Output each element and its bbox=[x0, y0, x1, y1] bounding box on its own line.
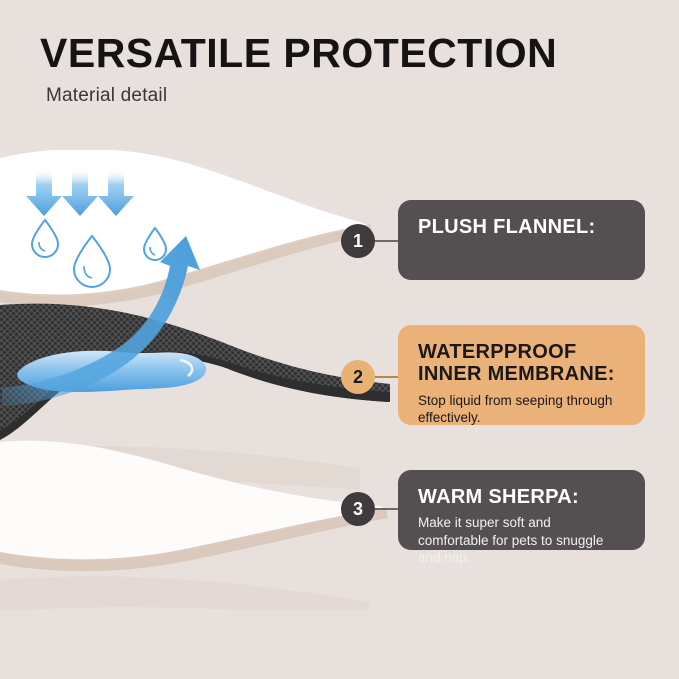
callout-title-2-line1: WATERPPROOF bbox=[418, 341, 625, 363]
callout-body-3: Make it super soft and comfortable for p… bbox=[418, 514, 625, 566]
material-cross-section-illustration bbox=[0, 150, 400, 610]
page-subtitle: Material detail bbox=[46, 85, 640, 107]
callout-title-2-line2: INNER MEMBRANE: bbox=[418, 363, 625, 385]
callout-warm-sherpa[interactable]: WARM SHERPA: Make it super soft and comf… bbox=[398, 470, 645, 550]
callout-title-1: PLUSH FLANNEL: bbox=[418, 216, 625, 238]
callout-waterproof-membrane[interactable]: WATERPPROOF INNER MEMBRANE: Stop liquid … bbox=[398, 325, 645, 425]
callout-title-3: WARM SHERPA: bbox=[418, 486, 625, 508]
page-title: VERSATILE PROTECTION bbox=[40, 32, 640, 75]
step-badge-2: 2 bbox=[341, 360, 375, 394]
water-down-arrows bbox=[26, 168, 134, 216]
plush-flannel-layer bbox=[0, 150, 372, 306]
infographic-canvas: VERSATILE PROTECTION Material detail bbox=[0, 0, 679, 679]
step-badge-3: 3 bbox=[341, 492, 375, 526]
header: VERSATILE PROTECTION Material detail bbox=[40, 32, 640, 107]
callout-plush-flannel[interactable]: PLUSH FLANNEL: bbox=[398, 200, 645, 280]
callout-body-2: Stop liquid from seeping through effecti… bbox=[418, 392, 625, 427]
step-badge-1: 1 bbox=[341, 224, 375, 258]
